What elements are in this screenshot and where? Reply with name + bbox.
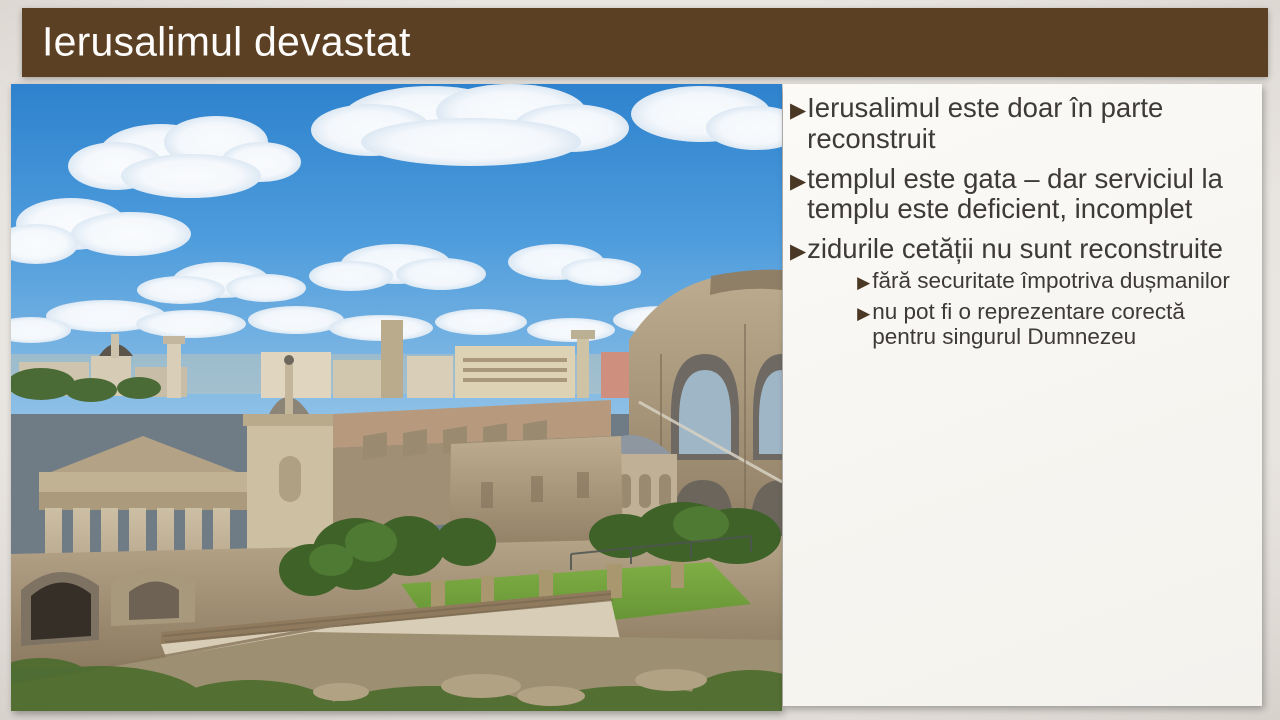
sub-bullet-list: ▶ fără securitate împotriva dușmanilor ▶… [807, 268, 1248, 350]
slide-title-bar: Ierusalimul devastat [22, 8, 1268, 77]
bullet-list: ▶ Ierusalimul este doar în parte reconst… [788, 93, 1248, 355]
bullet-arrow-icon: ▶ [790, 100, 806, 121]
bullet-arrow-icon: ▶ [857, 274, 870, 291]
bullet-text: zidurile cetății nu sunt reconstruite [807, 233, 1223, 264]
bullet-group: zidurile cetății nu sunt reconstruite ▶ … [807, 234, 1248, 355]
bullet-text: templul este gata – dar serviciul la tem… [807, 164, 1248, 226]
roman-forum-ruins-photo [11, 84, 782, 711]
list-item: ▶ zidurile cetății nu sunt reconstruite … [788, 234, 1248, 355]
bullet-arrow-icon: ▶ [790, 241, 806, 262]
list-item: ▶ Ierusalimul este doar în parte reconst… [788, 93, 1248, 155]
photo-illustration [11, 84, 782, 711]
bullet-text-panel: ▶ Ierusalimul este doar în parte reconst… [783, 84, 1262, 706]
list-item: ▶ nu pot fi o reprezentare corectă pentr… [857, 299, 1248, 350]
bullet-arrow-icon: ▶ [857, 305, 870, 322]
list-item: ▶ fără securitate împotriva dușmanilor [857, 268, 1248, 294]
page-title: Ierusalimul devastat [42, 18, 411, 65]
sub-bullet-text: fără securitate împotriva dușmanilor [872, 268, 1248, 294]
slide-canvas: Ierusalimul devastat [0, 0, 1280, 720]
bullet-text: Ierusalimul este doar în parte reconstru… [807, 93, 1248, 155]
list-item: ▶ templul este gata – dar serviciul la t… [788, 164, 1248, 226]
bullet-arrow-icon: ▶ [790, 171, 806, 192]
sub-bullet-text: nu pot fi o reprezentare corectă pentru … [872, 299, 1248, 350]
photo-frame [11, 84, 782, 711]
